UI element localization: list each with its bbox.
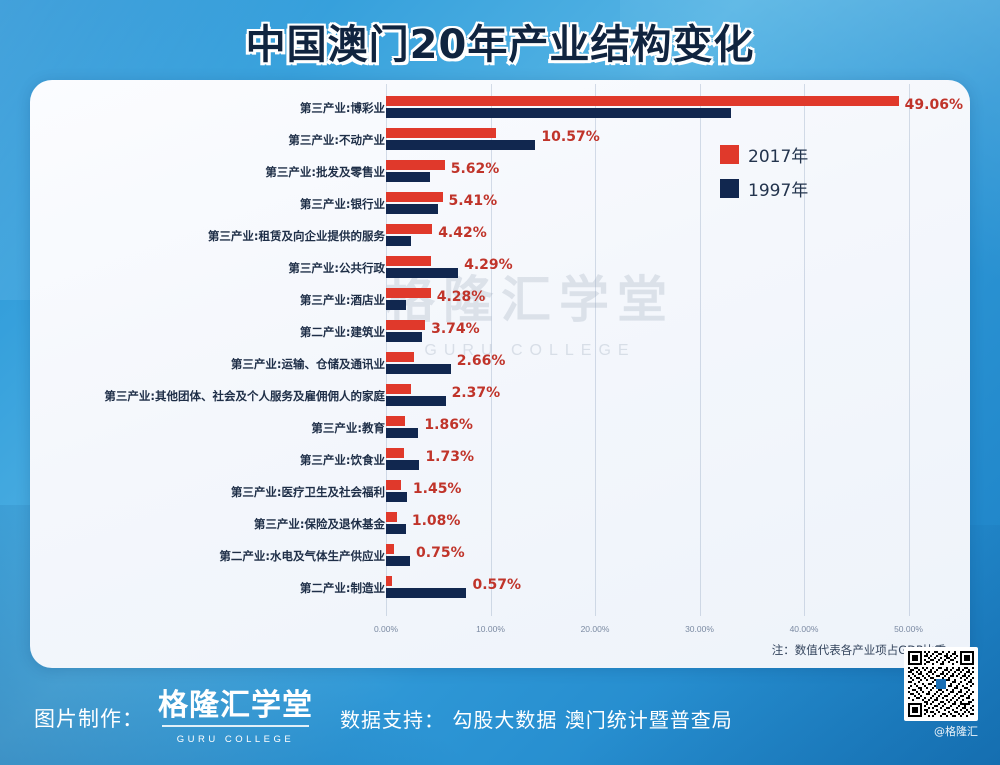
bar-value-label: 1.45% <box>413 479 462 505</box>
bar-2017[interactable] <box>386 480 401 490</box>
bar-row[interactable]: 第二产业:水电及气体生产供应业0.75% <box>30 540 970 572</box>
bar-1997[interactable] <box>386 460 419 470</box>
legend-label-2017: 2017年 <box>748 142 808 167</box>
bar-2017[interactable] <box>386 160 445 170</box>
x-axis-tick: 20.00% <box>581 624 610 634</box>
chart-legend: 2017年 1997年 <box>720 142 808 210</box>
bar-1997[interactable] <box>386 236 411 246</box>
category-label: 第三产业:其他团体、社会及个人服务及雇佣佣人的家庭 <box>30 385 385 407</box>
category-label: 第三产业:教育 <box>30 417 385 439</box>
bar-1997[interactable] <box>386 108 731 118</box>
brand-name-cn: 格隆汇学堂 <box>158 688 313 723</box>
x-axis-tick: 40.00% <box>790 624 819 634</box>
bar-2017[interactable] <box>386 96 899 106</box>
category-label: 第二产业:制造业 <box>30 577 385 599</box>
bar-1997[interactable] <box>386 588 466 598</box>
x-axis-tick: 10.00% <box>476 624 505 634</box>
bar-value-label: 10.57% <box>541 127 599 153</box>
bar-row[interactable]: 第三产业:租赁及向企业提供的服务4.42% <box>30 220 970 252</box>
category-label: 第三产业:医疗卫生及社会福利 <box>30 481 385 503</box>
bar-2017[interactable] <box>386 288 431 298</box>
x-axis: 0.00%10.00%20.00%30.00%40.00%50.00% <box>386 620 946 642</box>
legend-label-1997: 1997年 <box>748 176 808 201</box>
qr-code-svg <box>908 651 974 717</box>
qr-section: @格隆汇 <box>904 647 978 739</box>
category-label: 第三产业:酒店业 <box>30 289 385 311</box>
page-title: 中国澳门20年产业结构变化 <box>246 12 755 70</box>
bar-1997[interactable] <box>386 492 407 502</box>
bar-rows-container: 第三产业:博彩业49.06%第三产业:不动产业10.57%第三产业:批发及零售业… <box>30 92 970 604</box>
bar-2017[interactable] <box>386 512 397 522</box>
bar-row[interactable]: 第二产业:制造业0.57% <box>30 572 970 604</box>
bar-1997[interactable] <box>386 524 406 534</box>
bar-row[interactable]: 第三产业:不动产业10.57% <box>30 124 970 156</box>
bar-value-label: 0.75% <box>416 543 465 569</box>
category-label: 第三产业:不动产业 <box>30 129 385 151</box>
bar-1997[interactable] <box>386 556 410 566</box>
bar-row[interactable]: 第三产业:其他团体、社会及个人服务及雇佣佣人的家庭2.37% <box>30 380 970 412</box>
bar-1997[interactable] <box>386 300 406 310</box>
bar-value-label: 4.29% <box>464 255 513 281</box>
chart-card: 格隆汇学堂 GURU COLLEGE 第三产业:博彩业49.06%第三产业:不动… <box>30 80 970 668</box>
bar-1997[interactable] <box>386 332 422 342</box>
title-container: 中国澳门20年产业结构变化 <box>0 12 1000 70</box>
bar-value-label: 2.37% <box>452 383 501 409</box>
bar-1997[interactable] <box>386 268 458 278</box>
legend-item-1997[interactable]: 1997年 <box>720 176 808 201</box>
category-label: 第三产业:运输、仓储及通讯业 <box>30 353 385 375</box>
bar-2017[interactable] <box>386 128 496 138</box>
bar-2017[interactable] <box>386 320 425 330</box>
bar-row[interactable]: 第三产业:教育1.86% <box>30 412 970 444</box>
made-by-label: 图片制作： <box>34 703 144 733</box>
category-label: 第三产业:公共行政 <box>30 257 385 279</box>
bar-2017[interactable] <box>386 384 411 394</box>
x-axis-tick: 0.00% <box>374 624 398 634</box>
bar-row[interactable]: 第三产业:公共行政4.29% <box>30 252 970 284</box>
bar-value-label: 49.06% <box>905 95 963 121</box>
footer-credit: 图片制作： 格隆汇学堂 GURU COLLEGE <box>34 690 313 747</box>
bar-value-label: 5.41% <box>449 191 498 217</box>
bar-value-label: 1.08% <box>412 511 461 537</box>
x-axis-tick: 30.00% <box>685 624 714 634</box>
bar-row[interactable]: 第三产业:银行业5.41% <box>30 188 970 220</box>
bar-row[interactable]: 第三产业:酒店业4.28% <box>30 284 970 316</box>
category-label: 第二产业:水电及气体生产供应业 <box>30 545 385 567</box>
bar-1997[interactable] <box>386 204 438 214</box>
bar-row[interactable]: 第三产业:保险及退休基金1.08% <box>30 508 970 540</box>
category-label: 第三产业:租赁及向企业提供的服务 <box>30 225 385 247</box>
bar-value-label: 4.42% <box>438 223 487 249</box>
bar-2017[interactable] <box>386 448 404 458</box>
bar-value-label: 0.57% <box>472 575 521 601</box>
brand-logo: 格隆汇学堂 GURU COLLEGE <box>158 690 313 747</box>
bar-row[interactable]: 第三产业:批发及零售业5.62% <box>30 156 970 188</box>
bar-value-label: 2.66% <box>457 351 506 377</box>
bar-row[interactable]: 第三产业:医疗卫生及社会福利1.45% <box>30 476 970 508</box>
bar-2017[interactable] <box>386 192 443 202</box>
qr-code-icon[interactable] <box>904 647 978 721</box>
bar-row[interactable]: 第二产业:建筑业3.74% <box>30 316 970 348</box>
data-source-label: 数据支持： 勾股大数据 澳门统计暨普查局 <box>340 704 733 733</box>
x-axis-tick: 50.00% <box>894 624 923 634</box>
category-label: 第二产业:建筑业 <box>30 321 385 343</box>
bar-1997[interactable] <box>386 396 446 406</box>
bar-value-label: 4.28% <box>437 287 486 313</box>
bar-2017[interactable] <box>386 576 392 586</box>
category-label: 第三产业:批发及零售业 <box>30 161 385 183</box>
brand-divider <box>162 725 309 727</box>
legend-item-2017[interactable]: 2017年 <box>720 142 808 167</box>
bar-2017[interactable] <box>386 416 405 426</box>
category-label: 第三产业:保险及退休基金 <box>30 513 385 535</box>
bar-2017[interactable] <box>386 224 432 234</box>
bar-value-label: 1.73% <box>425 447 474 473</box>
bar-value-label: 3.74% <box>431 319 480 345</box>
bar-1997[interactable] <box>386 364 451 374</box>
bar-2017[interactable] <box>386 544 394 554</box>
legend-swatch-1997-icon <box>720 179 739 198</box>
footer-bar: 图片制作： 格隆汇学堂 GURU COLLEGE 数据支持： 勾股大数据 澳门统… <box>0 668 1000 765</box>
bar-row[interactable]: 第三产业:饮食业1.73% <box>30 444 970 476</box>
bar-row[interactable]: 第三产业:博彩业49.06% <box>30 92 970 124</box>
bar-row[interactable]: 第三产业:运输、仓储及通讯业2.66% <box>30 348 970 380</box>
category-label: 第三产业:饮食业 <box>30 449 385 471</box>
category-label: 第三产业:博彩业 <box>30 97 385 119</box>
category-label: 第三产业:银行业 <box>30 193 385 215</box>
bar-2017[interactable] <box>386 352 414 362</box>
bar-1997[interactable] <box>386 428 418 438</box>
bar-1997[interactable] <box>386 140 535 150</box>
bar-value-label: 5.62% <box>451 159 500 185</box>
bar-2017[interactable] <box>386 256 431 266</box>
bar-chart-plot: 第三产业:博彩业49.06%第三产业:不动产业10.57%第三产业:批发及零售业… <box>30 80 970 668</box>
legend-swatch-2017-icon <box>720 145 739 164</box>
bar-1997[interactable] <box>386 172 430 182</box>
bar-value-label: 1.86% <box>424 415 473 441</box>
brand-name-en: GURU COLLEGE <box>177 734 295 745</box>
qr-caption: @格隆汇 <box>904 723 978 739</box>
